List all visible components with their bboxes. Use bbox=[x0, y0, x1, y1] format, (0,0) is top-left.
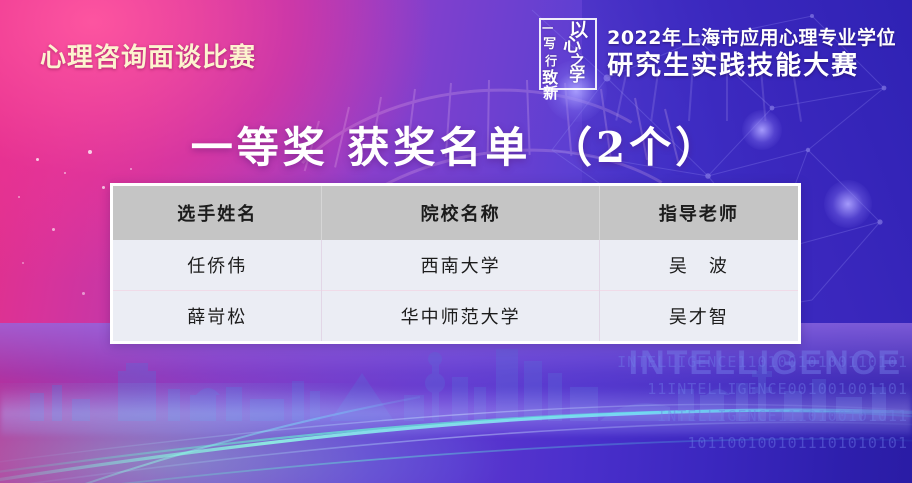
sparkle bbox=[22, 262, 24, 264]
mesh-node-glow bbox=[824, 180, 872, 228]
cell-advisor-name: 吴才智 bbox=[599, 291, 798, 342]
sparkle bbox=[18, 196, 20, 198]
bottom-decoration-band: INTELLIGENCE bbox=[0, 323, 912, 483]
cell-contestant-name: 薛岢松 bbox=[113, 291, 322, 342]
cell-school-name: 西南大学 bbox=[322, 240, 599, 291]
event-branding: 一 以 写 心 行 之 致 学 新 2022年上海市应用心理专业学位 研究生实践… bbox=[539, 18, 896, 90]
event-title-block: 2022年上海市应用心理专业学位 研究生实践技能大赛 bbox=[607, 29, 896, 79]
seal-char: 学 bbox=[569, 68, 585, 84]
competition-category-title: 心理咨询面谈比赛 bbox=[40, 37, 256, 74]
table-row: 薛岢松 华中师范大学 吴才智 bbox=[113, 291, 798, 342]
seal-char: 一 bbox=[542, 23, 553, 34]
winners-table-frame: 选手姓名 院校名称 指导老师 任侨伟 西南大学 吴 波 薛岢松 华中师范大学 吴… bbox=[110, 183, 801, 344]
event-title-line2: 研究生实践技能大赛 bbox=[607, 53, 859, 79]
first-prize-winners-table: 选手姓名 院校名称 指导老师 任侨伟 西南大学 吴 波 薛岢松 华中师范大学 吴… bbox=[113, 186, 798, 341]
column-header-school: 院校名称 bbox=[322, 186, 599, 240]
column-header-name: 选手姓名 bbox=[113, 186, 322, 240]
cell-advisor-name: 吴 波 bbox=[599, 240, 798, 291]
sparkle bbox=[52, 228, 55, 231]
seal-bottom-char: 新 bbox=[543, 82, 558, 103]
sparkle bbox=[102, 186, 105, 189]
sparkle bbox=[82, 292, 85, 295]
table-header-row: 选手姓名 院校名称 指导老师 bbox=[113, 186, 798, 240]
award-slide: INTELLIGENCE bbox=[0, 0, 912, 483]
column-header-advisor: 指导老师 bbox=[599, 186, 798, 240]
cell-school-name: 华中师范大学 bbox=[322, 291, 599, 342]
event-title-line1: 2022年上海市应用心理专业学位 bbox=[607, 29, 896, 48]
table-row: 任侨伟 西南大学 吴 波 bbox=[113, 240, 798, 291]
page-title: 一等奖 获奖名单 （2个） bbox=[0, 114, 912, 175]
seal-char: 写 bbox=[543, 38, 556, 51]
competition-seal-emblem: 一 以 写 心 行 之 致 学 新 bbox=[539, 18, 597, 90]
cell-contestant-name: 任侨伟 bbox=[113, 240, 322, 291]
seal-char: 行 bbox=[545, 55, 557, 67]
